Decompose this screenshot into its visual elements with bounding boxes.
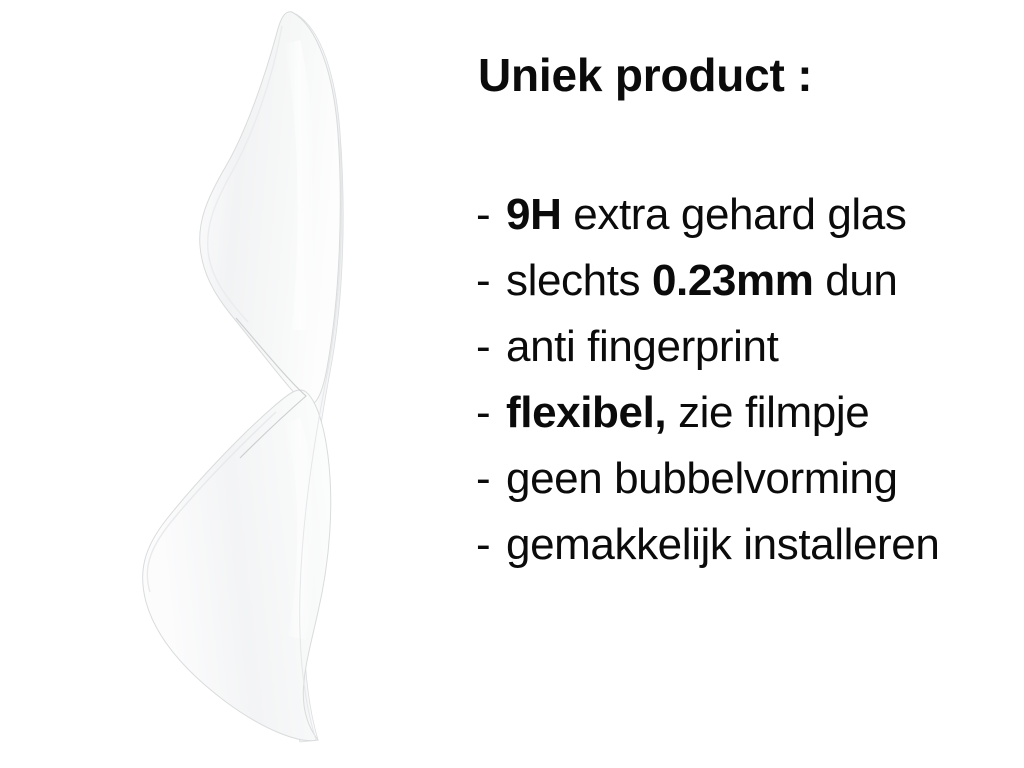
feature-text-before: geen bubbelvorming — [506, 454, 898, 503]
feature-text-after: extra gehard glas — [561, 190, 906, 239]
list-item: -gemakkelijk installeren — [476, 512, 1024, 578]
list-bullet: - — [476, 446, 506, 512]
list-item: -9H extra gehard glas — [476, 182, 1024, 248]
feature-text-emphasis: flexibel, — [506, 388, 666, 437]
feature-text-before: slechts — [506, 256, 652, 305]
list-item: -flexibel, zie filmpje — [476, 380, 1024, 446]
glass-upper-lobe — [200, 12, 341, 405]
product-image-panel — [0, 0, 460, 768]
list-item: -anti fingerprint — [476, 314, 1024, 380]
list-item: -slechts 0.23mm dun — [476, 248, 1024, 314]
list-bullet: - — [476, 380, 506, 446]
list-bullet: - — [476, 512, 506, 578]
feature-text-after: zie filmpje — [666, 388, 869, 437]
feature-text-before: gemakkelijk installeren — [506, 520, 939, 569]
page-title: Uniek product : — [478, 48, 812, 102]
product-feature-slide: Uniek product : -9H extra gehard glas -s… — [0, 0, 1024, 768]
feature-text-after: dun — [813, 256, 897, 305]
list-item: -geen bubbelvorming — [476, 446, 1024, 512]
list-bullet: - — [476, 314, 506, 380]
list-bullet: - — [476, 248, 506, 314]
feature-list: -9H extra gehard glas -slechts 0.23mm du… — [476, 182, 1024, 578]
feature-text-before: anti fingerprint — [506, 322, 778, 371]
feature-copy-panel: Uniek product : -9H extra gehard glas -s… — [460, 0, 1024, 768]
feature-text-emphasis: 9H — [506, 190, 561, 239]
feature-text-emphasis: 0.23mm — [652, 256, 813, 305]
list-bullet: - — [476, 182, 506, 248]
flexible-glass-illustration — [0, 0, 460, 768]
